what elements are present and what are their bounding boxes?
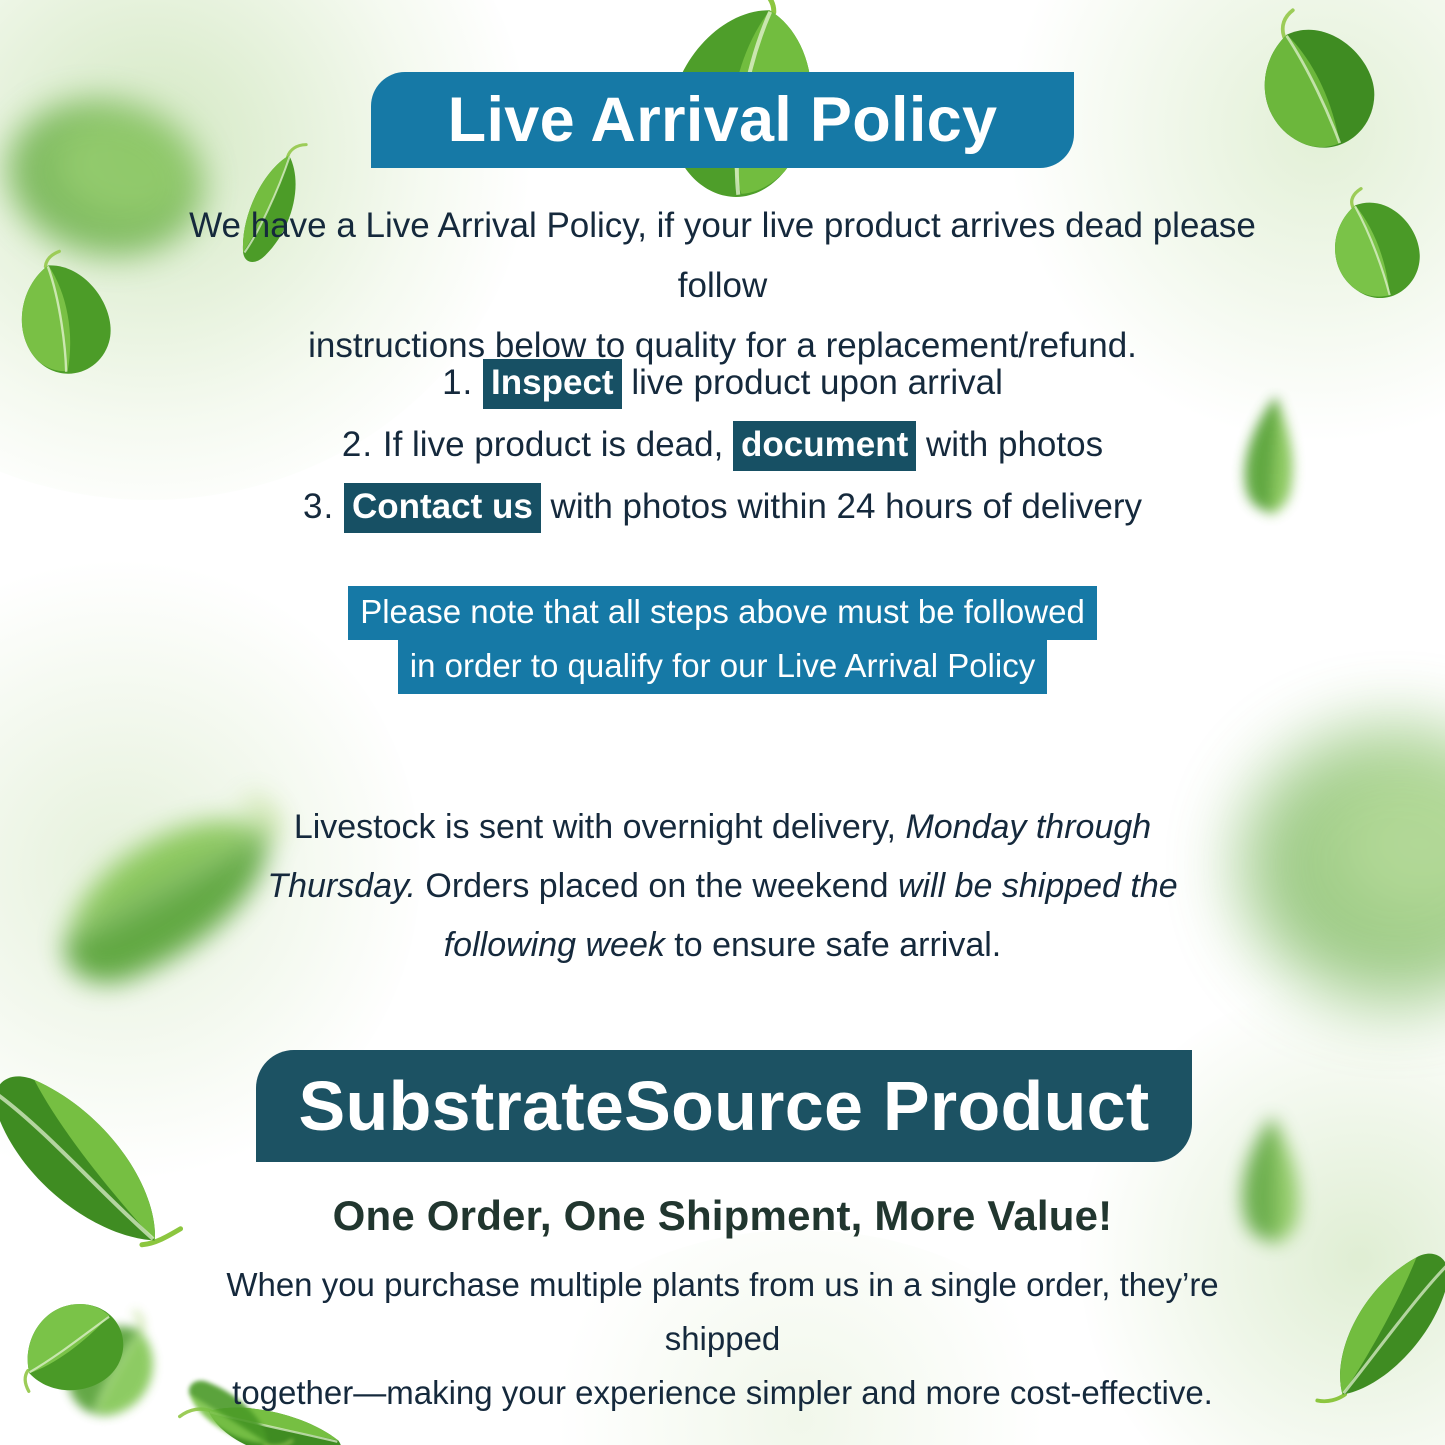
step-highlight-document: document [733, 421, 916, 471]
intro-line-1: We have a Live Arrival Policy, if your l… [170, 196, 1275, 316]
note-line-1: Please note that all steps above must be… [348, 586, 1097, 640]
step-highlight-contact-us: Contact us [344, 483, 541, 533]
live-arrival-policy-banner: Live Arrival Policy [371, 72, 1074, 168]
combined-shipping-paragraph: When you purchase multiple plants from u… [0, 1258, 1445, 1420]
shipping-text-part-3: to ensure safe arrival. [665, 926, 1001, 964]
step-number: 2. [342, 425, 373, 464]
note-line-2: in order to qualify for our Live Arrival… [398, 640, 1047, 694]
step-highlight-inspect: Inspect [483, 359, 622, 409]
outro-line-2: together—making your experience simpler … [185, 1366, 1260, 1420]
substratesource-product-banner: SubstrateSource Product [256, 1050, 1192, 1162]
shipping-text-part-2: Orders placed on the weekend [416, 867, 898, 905]
step-number: 3. [303, 487, 334, 526]
step-text-after: with photos within 24 hours of delivery [551, 487, 1142, 526]
intro-paragraph: We have a Live Arrival Policy, if your l… [0, 196, 1445, 376]
shipping-text-part-1: Livestock is sent with overnight deliver… [294, 808, 906, 846]
substratesource-product-title: SubstrateSource Product [299, 1066, 1150, 1146]
policy-note-block: Please note that all steps above must be… [0, 586, 1445, 694]
live-arrival-policy-title: Live Arrival Policy [448, 84, 998, 156]
list-item: 3. Contact us with photos within 24 hour… [0, 476, 1445, 538]
list-item: 1. Inspect live product upon arrival [0, 352, 1445, 414]
step-text-before: If live product is dead, [383, 425, 733, 464]
step-text-after: live product upon arrival [631, 363, 1003, 402]
step-text-after: with photos [926, 425, 1103, 464]
shipping-schedule-paragraph: Livestock is sent with overnight deliver… [0, 798, 1445, 975]
policy-steps-list: 1. Inspect live product upon arrival 2. … [0, 352, 1445, 538]
live-arrival-policy-infographic: Live Arrival Policy We have a Live Arriv… [0, 0, 1445, 1445]
value-subheading: One Order, One Shipment, More Value! [0, 1192, 1445, 1240]
step-number: 1. [442, 363, 473, 402]
outro-line-1: When you purchase multiple plants from u… [185, 1258, 1260, 1366]
list-item: 2. If live product is dead, document wit… [0, 414, 1445, 476]
